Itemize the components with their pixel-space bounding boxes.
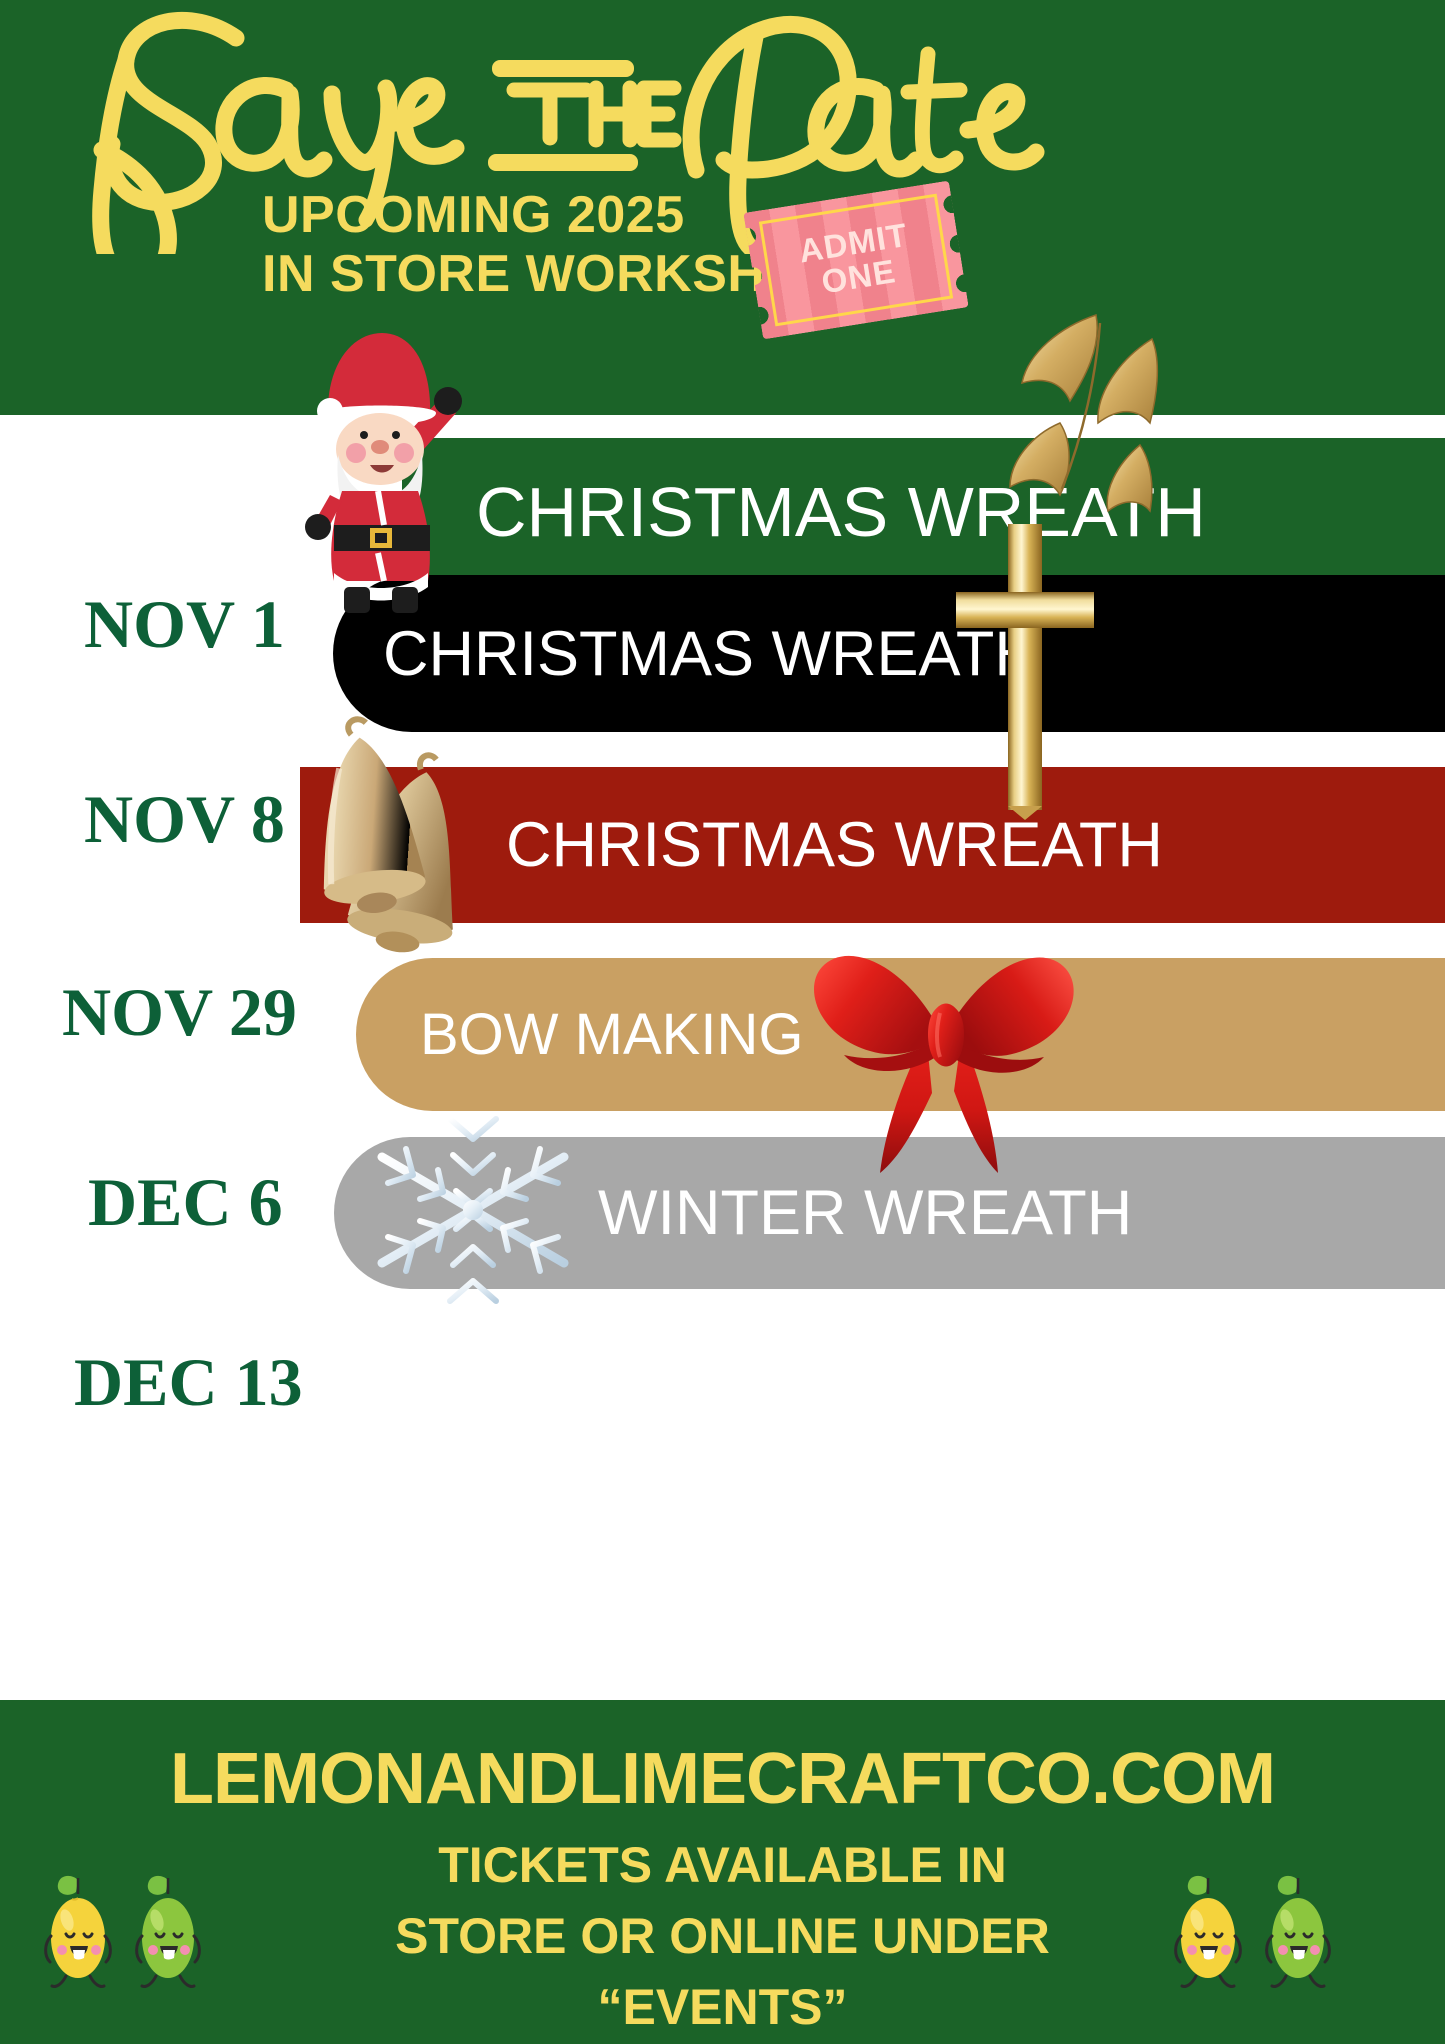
workshop-title-bar: CHRISTMAS WREATH: [300, 767, 1445, 923]
workshop-title-bar: WINTER WREATH: [334, 1137, 1445, 1289]
website-url[interactable]: LEMONANDLIMECRAFTCO.COM: [0, 1738, 1445, 1820]
workshop-title-bar: BOW MAKING: [356, 958, 1445, 1111]
workshop-title: WINTER WREATH: [598, 1177, 1132, 1249]
poster-footer: LEMONANDLIMECRAFTCO.COM TICKETS AVAILABL…: [0, 1700, 1445, 2044]
poster: UPCOMING 2025 IN STORE WORKSHOPS ADMIT O…: [0, 0, 1445, 2044]
workshop-title-bar: CHRISTMAS WREATH: [333, 575, 1445, 732]
ticket-line-2: ONE: [819, 254, 898, 300]
workshop-schedule-list: CHRISTMAS WREATH CHRISTMAS WREATH CHRIST…: [0, 415, 1445, 1700]
workshop-date: NOV 8: [84, 780, 285, 859]
lime-mascot-icon: [1262, 1872, 1334, 1996]
poster-header: UPCOMING 2025 IN STORE WORKSHOPS ADMIT O…: [0, 0, 1445, 415]
workshop-title: CHRISTMAS WREATH: [476, 472, 1206, 552]
workshop-date: NOV 1: [84, 585, 285, 664]
lemon-mascot-icon: [1172, 1872, 1244, 1996]
workshop-title: CHRISTMAS WREATH: [383, 618, 1040, 690]
workshop-date: DEC 13: [74, 1343, 303, 1422]
workshop-date: DEC 6: [88, 1163, 283, 1242]
workshop-title: BOW MAKING: [420, 1001, 803, 1068]
workshop-date: NOV 29: [62, 973, 297, 1052]
lime-mascot-icon: [132, 1872, 204, 1996]
workshop-title: CHRISTMAS WREATH: [506, 809, 1163, 881]
lemon-mascot-icon: [42, 1872, 114, 1996]
